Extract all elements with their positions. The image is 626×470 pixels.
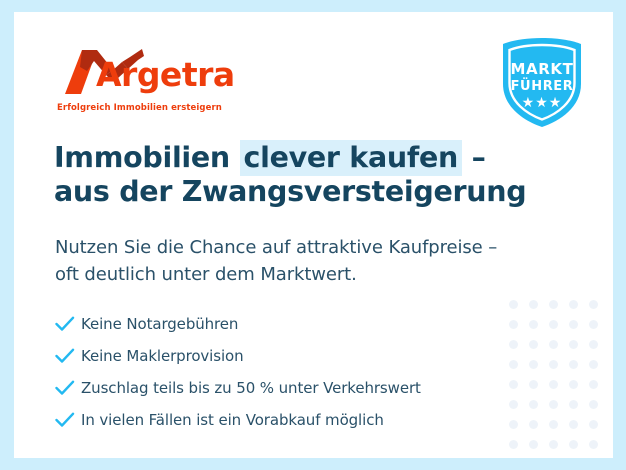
decorative-dot	[529, 420, 538, 429]
decorative-dot	[549, 440, 558, 449]
decorative-dot	[569, 420, 578, 429]
decorative-dot	[549, 380, 558, 389]
headline-text-before: Immobilien	[54, 141, 240, 174]
decorative-dot	[509, 440, 518, 449]
decorative-dot	[589, 320, 598, 329]
list-item-label: Keine Notargebühren	[81, 315, 238, 333]
decorative-dot	[509, 340, 518, 349]
subheadline: Nutzen Sie die Chance auf attraktive Kau…	[55, 234, 497, 288]
decorative-dot	[589, 400, 598, 409]
decorative-dot	[509, 400, 518, 409]
benefit-list: Keine Notargebühren Keine Maklerprovisio…	[55, 308, 421, 436]
headline-text-after: –	[462, 141, 486, 174]
decorative-dot	[549, 400, 558, 409]
argetra-logo[interactable]: Argetra Erfolgreich Immobilien ersteiger…	[56, 45, 216, 117]
decorative-dot	[509, 380, 518, 389]
decorative-dot	[529, 400, 538, 409]
decorative-dot	[549, 320, 558, 329]
decorative-dot	[569, 400, 578, 409]
decorative-dot	[589, 440, 598, 449]
headline: Immobilien clever kaufen – aus der Zwang…	[54, 141, 526, 208]
badge-stars: ★★★	[500, 95, 584, 109]
decorative-dot	[589, 380, 598, 389]
decorative-dot	[589, 420, 598, 429]
list-item-label: Zuschlag teils bis zu 50 % unter Verkehr…	[81, 379, 421, 397]
check-icon	[55, 316, 81, 332]
list-item-label: In vielen Fällen ist ein Vorabkauf mögli…	[81, 411, 384, 429]
decorative-dot	[549, 300, 558, 309]
decorative-dot	[549, 360, 558, 369]
list-item: Keine Maklerprovision	[55, 340, 421, 372]
decorative-dot	[529, 340, 538, 349]
decorative-dot	[569, 300, 578, 309]
check-icon	[55, 348, 81, 364]
decorative-dot	[509, 360, 518, 369]
badge-line-2: FÜHRER	[500, 80, 584, 93]
check-icon	[55, 412, 81, 428]
headline-line-1: Immobilien clever kaufen –	[54, 141, 526, 175]
decorative-dot	[589, 360, 598, 369]
headline-highlight: clever kaufen	[240, 140, 462, 176]
promo-frame: Argetra Erfolgreich Immobilien ersteiger…	[0, 0, 626, 470]
decorative-dot	[569, 340, 578, 349]
decorative-dot	[569, 380, 578, 389]
logo-tagline: Erfolgreich Immobilien ersteigern	[57, 103, 222, 113]
headline-line-2: aus der Zwangsversteigerung	[54, 175, 526, 209]
logo-wordmark: Argetra	[96, 58, 235, 91]
list-item: Keine Notargebühren	[55, 308, 421, 340]
decorative-dot	[549, 340, 558, 349]
decorative-dot	[589, 300, 598, 309]
decorative-dot	[569, 320, 578, 329]
subheadline-line-2: oft deutlich unter dem Marktwert.	[55, 261, 497, 288]
decorative-dot	[509, 300, 518, 309]
decorative-dot	[569, 360, 578, 369]
decorative-dot	[529, 300, 538, 309]
badge-line-1: MARKT	[500, 62, 584, 77]
decorative-dot	[549, 420, 558, 429]
check-icon	[55, 380, 81, 396]
decorative-dot	[529, 320, 538, 329]
decorative-dot	[529, 360, 538, 369]
dot-grid-decoration	[509, 300, 609, 458]
decorative-dot	[509, 320, 518, 329]
list-item: Zuschlag teils bis zu 50 % unter Verkehr…	[55, 372, 421, 404]
promo-card: Argetra Erfolgreich Immobilien ersteiger…	[14, 12, 613, 458]
market-leader-badge: MARKT FÜHRER ★★★	[500, 37, 584, 129]
decorative-dot	[569, 440, 578, 449]
decorative-dot	[509, 420, 518, 429]
subheadline-line-1: Nutzen Sie die Chance auf attraktive Kau…	[55, 234, 497, 261]
decorative-dot	[529, 380, 538, 389]
decorative-dot	[529, 440, 538, 449]
list-item-label: Keine Maklerprovision	[81, 347, 244, 365]
decorative-dot	[589, 340, 598, 349]
list-item: In vielen Fällen ist ein Vorabkauf mögli…	[55, 404, 421, 436]
